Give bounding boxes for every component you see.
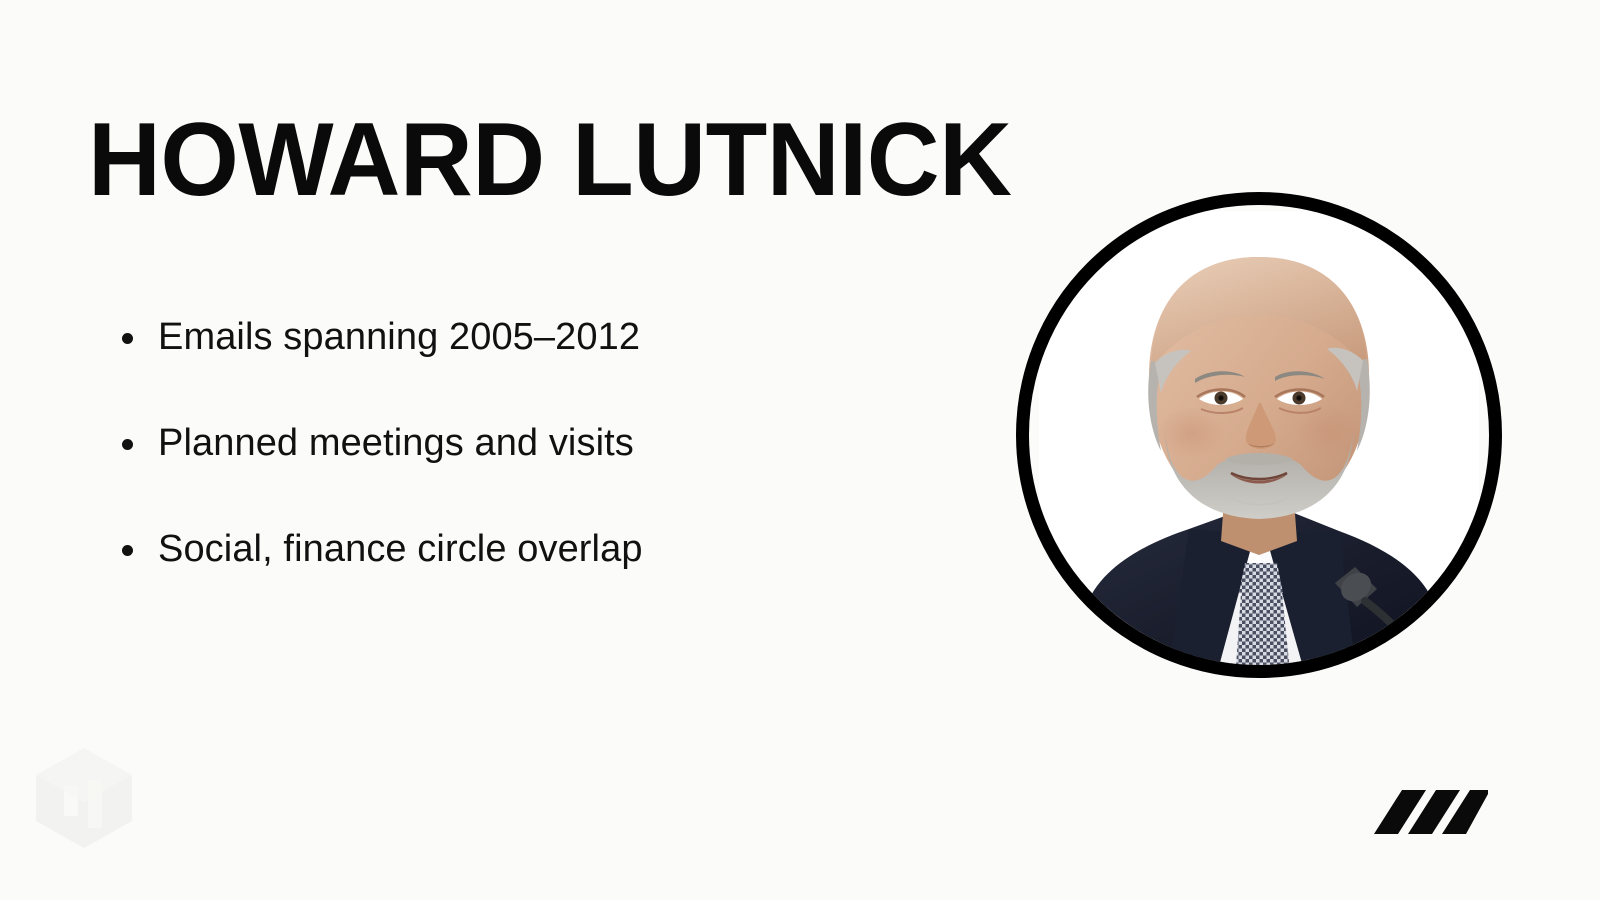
list-item-label: Emails spanning 2005–2012 bbox=[158, 316, 640, 358]
triple-slash-mark-icon bbox=[1352, 790, 1488, 834]
page-title: HOWARD LUTNICK bbox=[88, 108, 1011, 212]
avatar bbox=[1016, 192, 1502, 678]
hexagon-logo-watermark-icon bbox=[28, 742, 140, 854]
bullet-dot-icon bbox=[122, 545, 133, 556]
list-item: Social, finance circle overlap bbox=[118, 527, 918, 572]
bullet-list: Emails spanning 2005–2012 Planned meetin… bbox=[118, 315, 918, 571]
bullet-dot-icon bbox=[122, 439, 133, 450]
list-item: Planned meetings and visits bbox=[118, 421, 918, 466]
list-item: Emails spanning 2005–2012 bbox=[118, 315, 918, 360]
avatar-ring bbox=[1016, 192, 1502, 678]
bullet-dot-icon bbox=[122, 333, 133, 344]
slide-canvas: HOWARD LUTNICK Emails spanning 2005–2012… bbox=[0, 0, 1600, 900]
list-item-label: Social, finance circle overlap bbox=[158, 528, 643, 570]
list-item-label: Planned meetings and visits bbox=[158, 422, 634, 464]
